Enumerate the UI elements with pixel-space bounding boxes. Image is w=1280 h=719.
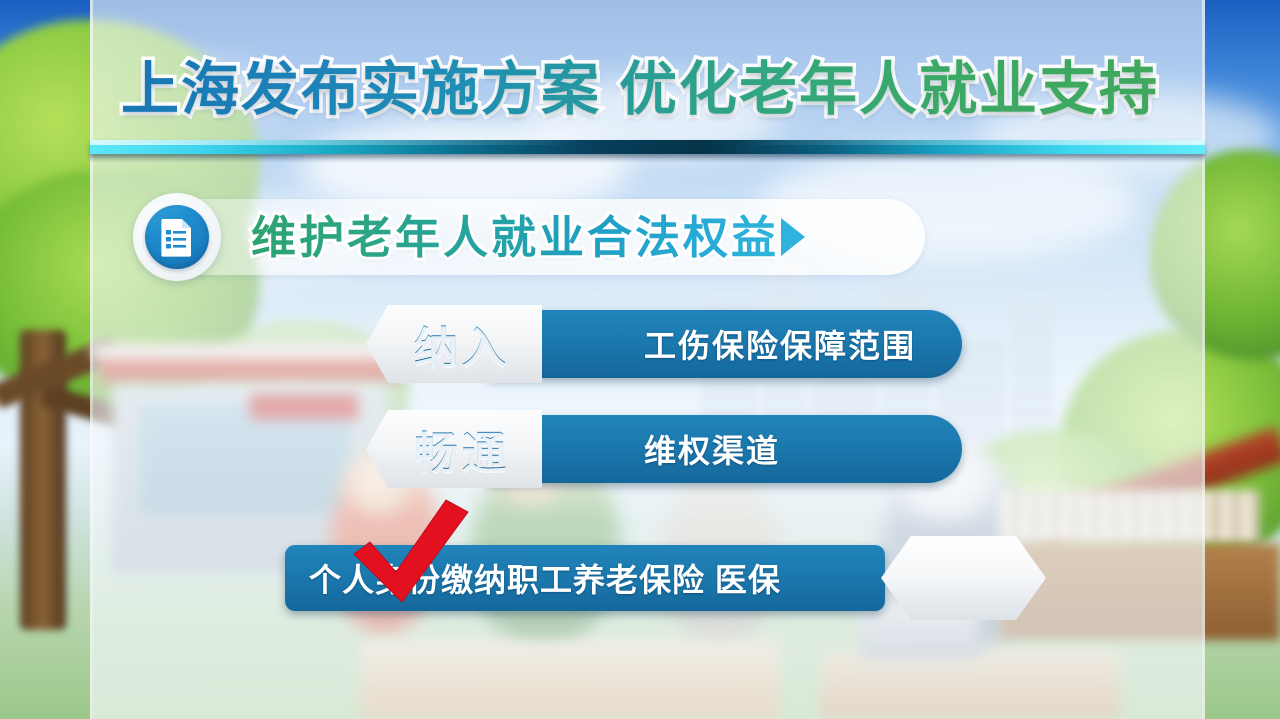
title-divider-shadow	[90, 154, 1205, 163]
measure-row-1: 工伤保险保障范围 纳入	[366, 305, 542, 383]
measure-row-2-tag-label: 畅通	[414, 417, 510, 481]
measure-row-2-tag: 畅通	[366, 410, 542, 488]
section-heading-fill: 维护老年人就业合法权益	[251, 212, 779, 263]
play-triangle-icon	[781, 218, 805, 256]
document-checklist-icon	[133, 193, 221, 281]
title-divider-bar	[90, 140, 1205, 154]
measure-row-2-bar: 维权渠道	[484, 415, 962, 483]
page-title: 上海发布实施方案 优化老年人就业支持	[0, 58, 1280, 123]
measure-row-2: 维权渠道 畅通	[366, 410, 542, 488]
document-checklist-icon-glyph	[159, 217, 195, 257]
red-check-icon	[340, 498, 480, 608]
section-heading-text-wrap: 维护老年人就业合法权益 维护老年人就业合法权益	[251, 215, 805, 260]
news-graphic-stage: 上海发布实施方案 优化老年人就业支持 上海发布实施方案 优化老年人就业支持	[0, 0, 1280, 719]
document-checklist-icon-circle	[145, 205, 209, 269]
measure-row-1-tag: 纳入	[366, 305, 542, 383]
section-heading-row: 维护老年人就业合法权益 维护老年人就业合法权益	[133, 193, 805, 281]
measure-row-1-label: 工伤保险保障范围	[644, 321, 916, 367]
section-heading: 维护老年人就业合法权益 维护老年人就业合法权益	[251, 215, 779, 260]
measure-row-2-label: 维权渠道	[644, 426, 780, 472]
measure-row-1-tag-label: 纳入	[414, 312, 510, 376]
check-badge-hexagon	[881, 536, 1046, 620]
measure-row-1-bar: 工伤保险保障范围	[484, 310, 962, 378]
page-title-text: 上海发布实施方案 优化老年人就业支持	[121, 58, 1159, 123]
